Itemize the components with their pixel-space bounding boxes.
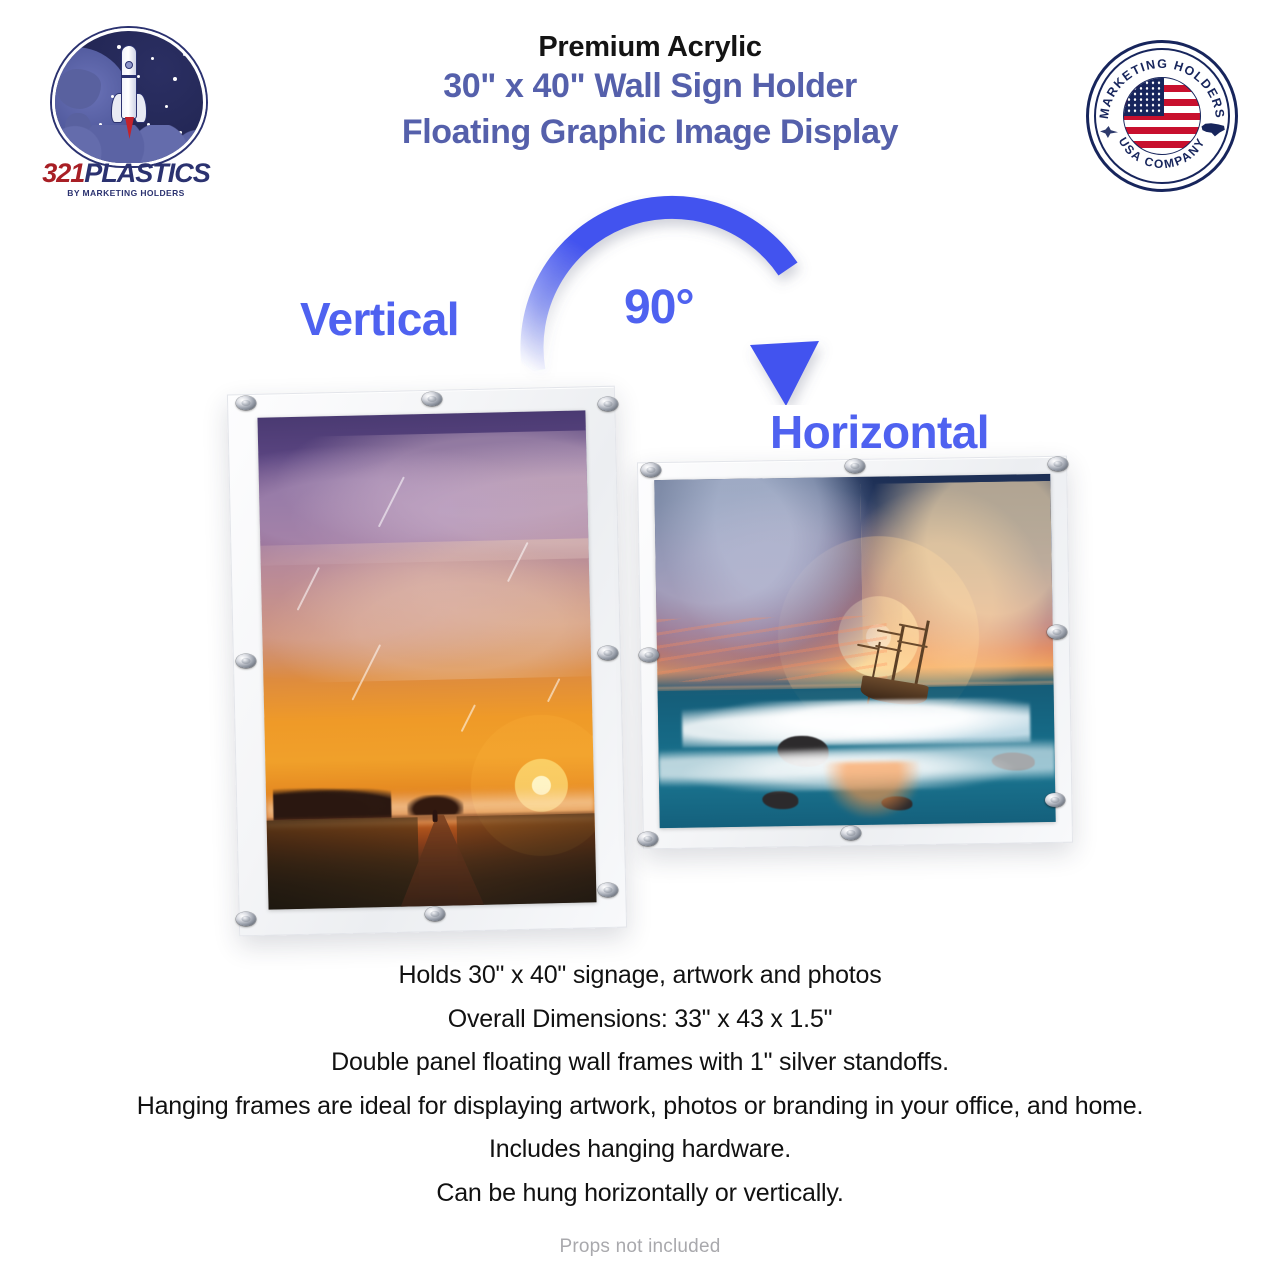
standoff-screw: [841, 826, 861, 840]
standoff-screw: [598, 646, 618, 660]
rocket-icon: [112, 45, 146, 145]
description-line: Overall Dimensions: 33" x 43 x 1.5": [0, 1004, 1280, 1035]
props-disclaimer: Props not included: [0, 1236, 1280, 1258]
description-line: Double panel floating wall frames with 1…: [0, 1047, 1280, 1078]
logo-wordmark: 321PLASTICS: [38, 160, 214, 187]
standoff-screw: [236, 912, 256, 926]
standoff-screw: [236, 654, 256, 668]
logo-word-primary: 321: [42, 158, 84, 188]
standoff-screw: [639, 648, 659, 662]
logo-word-secondary: PLASTICS: [84, 158, 210, 188]
description-line: Can be hung horizontally or vertically.: [0, 1178, 1280, 1209]
horizontal-frame-photo: [654, 474, 1055, 828]
standoff-screw: [422, 392, 442, 406]
description-line: Includes hanging hardware.: [0, 1134, 1280, 1165]
rotation-degree-label: 90°: [624, 280, 694, 335]
title-line-2: 30" x 40" Wall Sign Holder: [250, 64, 1050, 110]
title-line-1: Premium Acrylic: [250, 30, 1050, 64]
ship-silhouette: [854, 615, 946, 703]
standoff-screw: [598, 883, 618, 897]
description-line: Hanging frames are ideal for displaying …: [0, 1091, 1280, 1122]
vertical-frame-photo: [257, 410, 596, 909]
standoff-screw: [638, 832, 658, 846]
standoff-screw: [236, 396, 256, 410]
rocket-orb-icon: [52, 28, 206, 166]
standoff-screw: [641, 463, 661, 477]
horizontal-label: Horizontal: [770, 405, 989, 459]
logo-tagline: BY MARKETING HOLDERS: [38, 188, 214, 198]
vertical-label: Vertical: [300, 292, 459, 346]
standoff-screw: [1045, 793, 1065, 807]
product-infographic: 321PLASTICS BY MARKETING HOLDERS Premium…: [0, 0, 1280, 1280]
marketing-holders-usa-badge: MARKETING HOLDERS USA COMPANY: [1086, 40, 1238, 192]
standoff-screw: [1048, 457, 1068, 471]
usa-flag-icon: [1123, 77, 1201, 155]
321plastics-logo: 321PLASTICS BY MARKETING HOLDERS: [38, 28, 214, 196]
standoff-screw: [1047, 625, 1067, 639]
description-block: Holds 30" x 40" signage, artwork and pho…: [0, 960, 1280, 1221]
description-line: Holds 30" x 40" signage, artwork and pho…: [0, 960, 1280, 991]
standoff-screw: [845, 459, 865, 473]
standoff-screw: [425, 907, 445, 921]
page-title: Premium Acrylic 30" x 40" Wall Sign Hold…: [250, 30, 1050, 155]
title-line-3: Floating Graphic Image Display: [250, 110, 1050, 156]
